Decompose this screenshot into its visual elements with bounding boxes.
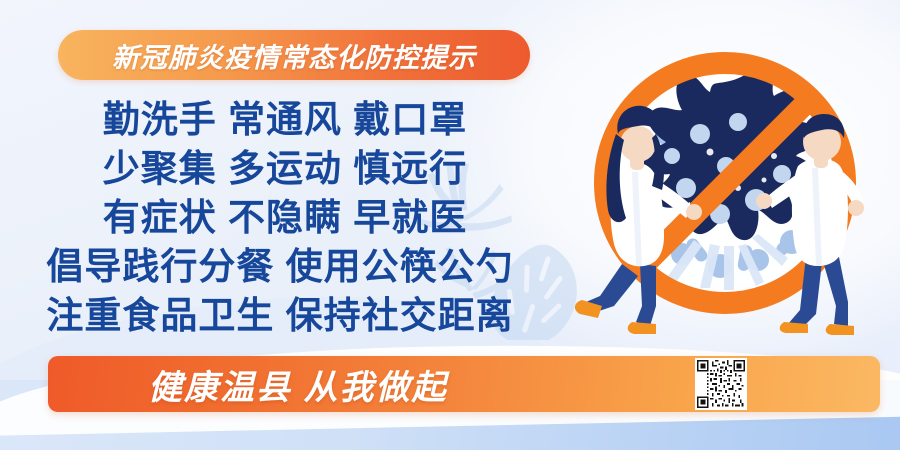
slogan-line-2: 少聚集 多运动 慎远行 xyxy=(10,144,560,193)
slogan-line-1: 勤洗手 常通风 戴口罩 xyxy=(10,95,560,144)
qr-code[interactable] xyxy=(695,358,747,410)
header-banner-text: 新冠肺炎疫情常态化防控提示 xyxy=(112,36,476,75)
footer-banner-text: 健康温县 从我做起 xyxy=(148,360,447,409)
slogan-line-5: 注重食品卫生 保持社交距离 xyxy=(0,291,560,340)
header-banner: 新冠肺炎疫情常态化防控提示 xyxy=(58,30,530,80)
slogan-line-4: 倡导践行分餐 使用公筷公勺 xyxy=(0,242,560,291)
footer-banner: 健康温县 从我做起 xyxy=(48,356,880,412)
no-virus-illustration xyxy=(560,38,890,338)
slogan-list: 勤洗手 常通风 戴口罩 少聚集 多运动 慎远行 有症状 不隐瞒 早就医 倡导践行… xyxy=(0,95,560,340)
slogan-line-3: 有症状 不隐瞒 早就医 xyxy=(10,193,560,242)
poster-canvas: 新冠肺炎疫情常态化防控提示 勤洗手 常通风 戴口罩 少聚集 多运动 慎远行 有症… xyxy=(0,0,900,450)
